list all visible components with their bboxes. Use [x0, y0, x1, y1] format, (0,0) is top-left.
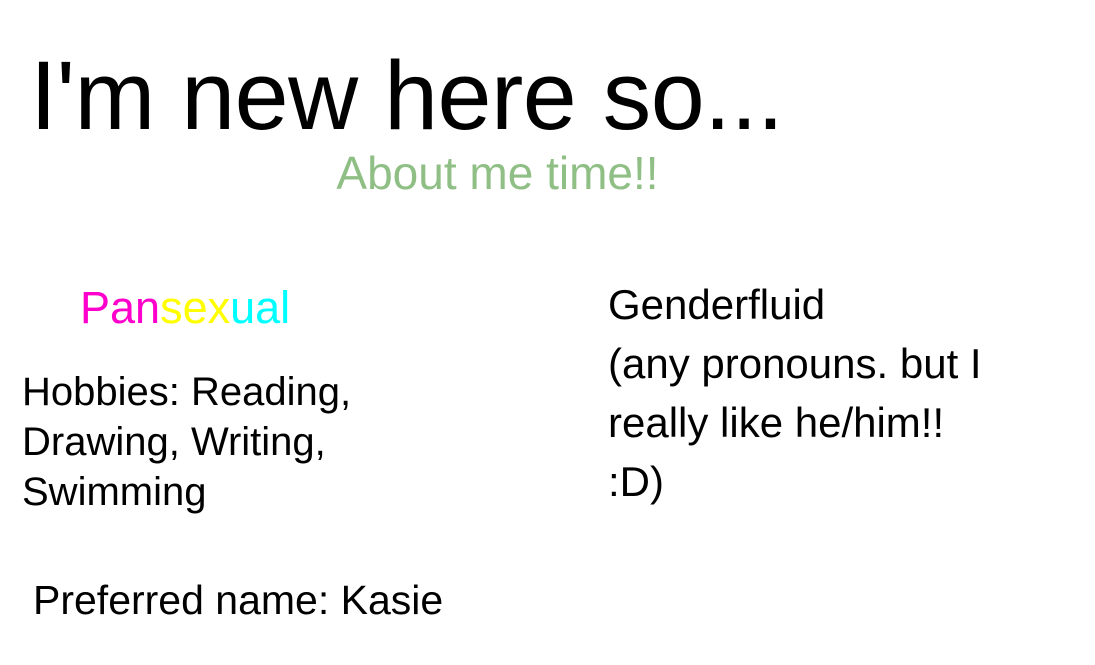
hobbies-text: Hobbies: Reading, Drawing, Writing, Swim… [22, 367, 442, 517]
right-column: Genderfluid (any pronouns. but I really … [608, 275, 1078, 511]
pronouns-line-2: really like he/him!! [608, 393, 1078, 452]
orientation-segment-ual: ual [230, 282, 290, 333]
pronouns-line-1: (any pronouns. but I [608, 334, 1078, 393]
page-title: I'm new here so... [30, 46, 784, 146]
orientation-segment-sex: sex [160, 282, 230, 333]
slide-canvas: I'm new here so... About me time!! Panse… [0, 0, 1095, 665]
preferred-name-text: Preferred name: Kasie [33, 575, 443, 625]
orientation-segment-pan: Pan [80, 282, 160, 333]
page-subtitle: About me time!! [0, 148, 995, 198]
gender-identity-line: Genderfluid [608, 275, 1078, 334]
pronouns-line-3: :D) [608, 452, 1078, 511]
orientation-label: Pansexual [80, 283, 290, 333]
